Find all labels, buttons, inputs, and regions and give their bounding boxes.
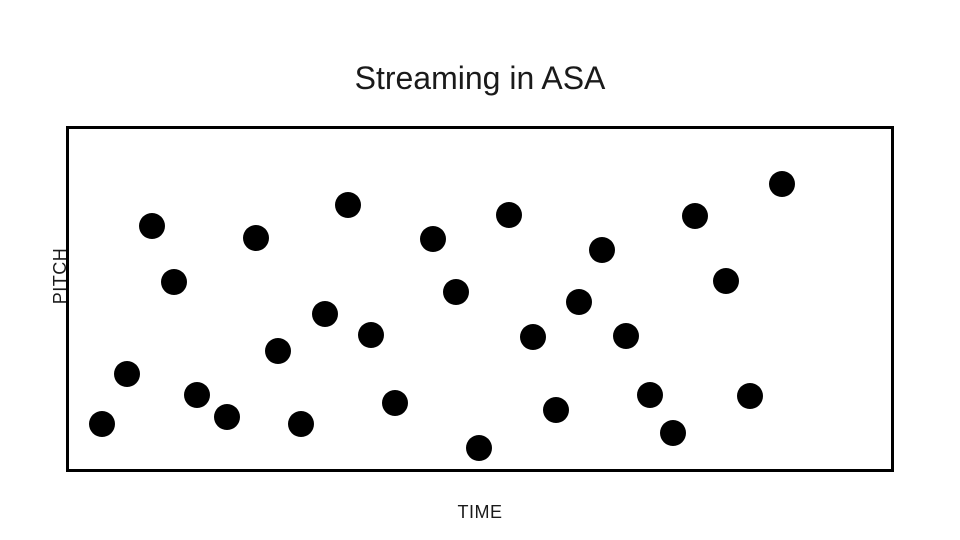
plot-frame (66, 126, 894, 472)
data-point (613, 323, 639, 349)
page-title: Streaming in ASA (0, 59, 960, 97)
data-point (358, 322, 384, 348)
data-point (520, 324, 546, 350)
data-point (713, 268, 739, 294)
data-point (466, 435, 492, 461)
data-point (335, 192, 361, 218)
data-point (443, 279, 469, 305)
data-point (214, 404, 240, 430)
y-axis-label: PITCH (49, 226, 71, 326)
plot-area (69, 129, 891, 469)
data-point (114, 361, 140, 387)
data-point (737, 383, 763, 409)
data-point (543, 397, 569, 423)
data-point (243, 225, 269, 251)
data-point (682, 203, 708, 229)
data-point (566, 289, 592, 315)
data-point (420, 226, 446, 252)
data-point (769, 171, 795, 197)
data-point (184, 382, 210, 408)
data-point (288, 411, 314, 437)
scatter-plot-figure: Streaming in ASA PITCH TIME (0, 0, 960, 540)
data-point (312, 301, 338, 327)
data-point (265, 338, 291, 364)
x-axis-label: TIME (0, 501, 960, 523)
data-point (660, 420, 686, 446)
data-point (589, 237, 615, 263)
data-point (496, 202, 522, 228)
data-point (139, 213, 165, 239)
data-point (382, 390, 408, 416)
data-point (161, 269, 187, 295)
data-point (637, 382, 663, 408)
data-point (89, 411, 115, 437)
